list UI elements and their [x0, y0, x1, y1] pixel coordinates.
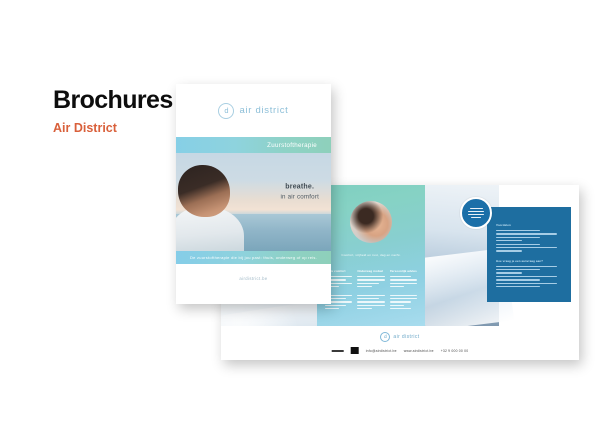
heading-block: Brochures Air District: [53, 86, 193, 136]
cover-footer-url: airdistrict.be: [239, 276, 267, 281]
spread-footer: d air district info@airdistrict.be www.a…: [221, 326, 579, 360]
footer-contact-email: info@airdistrict.be: [366, 349, 397, 353]
brand-wordmark: air district: [393, 334, 419, 340]
spread-panel-blue: Voordelen Hoe vraag je een aanvraag aan?: [425, 185, 579, 326]
teal-column: Persoonlijk advies: [390, 269, 417, 318]
spread-panel-teal: Comfort, vrijheid en rust, dag en nacht.…: [317, 185, 425, 326]
teal-column: Onderweg mobiel: [357, 269, 384, 318]
blue-section-heading: Voordelen: [496, 223, 562, 227]
footer-rule-icon: [332, 350, 344, 352]
footer-contact-phone: +32 9 000 00 00: [441, 349, 469, 353]
person-head: [178, 165, 230, 217]
cover-tagline-line1: breathe.: [280, 183, 319, 193]
brand-mark-icon: d: [218, 103, 234, 119]
cover-hero-photo: breathe. in air comfort: [176, 153, 331, 251]
blue-info-block: Voordelen Hoe vraag je een aanvraag aan?: [487, 207, 571, 302]
cover-footer: airdistrict.be: [176, 264, 331, 304]
page-subtitle: Air District: [53, 120, 193, 136]
footer-contact-bar: info@airdistrict.be www.airdistrict.be +…: [332, 347, 469, 354]
cover-banner-text: Zuurstoftherapie: [267, 142, 317, 149]
teal-column-heading: Onderweg mobiel: [357, 269, 384, 273]
cover-tagline: breathe. in air comfort: [280, 183, 319, 202]
cover-banner: Zuurstoftherapie: [176, 137, 331, 153]
blue-section: Hoe vraag je een aanvraag aan?: [496, 259, 562, 288]
teal-panel-columns: Thuis comfort Onderweg mobiel Pers: [325, 269, 417, 318]
cover-brand-logo: d air district: [176, 84, 331, 137]
footer-square-icon: [351, 347, 359, 354]
cover-strip-text: De zuurstoftherapie die bij jou past: th…: [190, 255, 317, 260]
blue-section: Voordelen: [496, 223, 562, 252]
page-title: Brochures: [53, 86, 193, 114]
brand-wordmark: air district: [239, 105, 288, 116]
quality-seal-badge-icon: [460, 197, 492, 229]
brand-mark-icon: d: [380, 332, 390, 342]
cover-bottom-strip: De zuurstoftherapie die bij jou past: th…: [176, 251, 331, 264]
footer-contact-website: www.airdistrict.be: [404, 349, 434, 353]
brochure-cover[interactable]: d air district Zuurstoftherapie breathe.…: [176, 84, 331, 304]
teal-column-heading: Persoonlijk advies: [390, 269, 417, 273]
cover-tagline-line2: in air comfort: [280, 193, 319, 202]
blue-section-heading: Hoe vraag je een aanvraag aan?: [496, 259, 562, 263]
footer-brand-logo: d air district: [221, 332, 579, 342]
teal-panel-tagline: Comfort, vrijheid en rust, dag en nacht.: [327, 253, 415, 258]
couple-sleeping-circle-photo: [350, 201, 392, 243]
